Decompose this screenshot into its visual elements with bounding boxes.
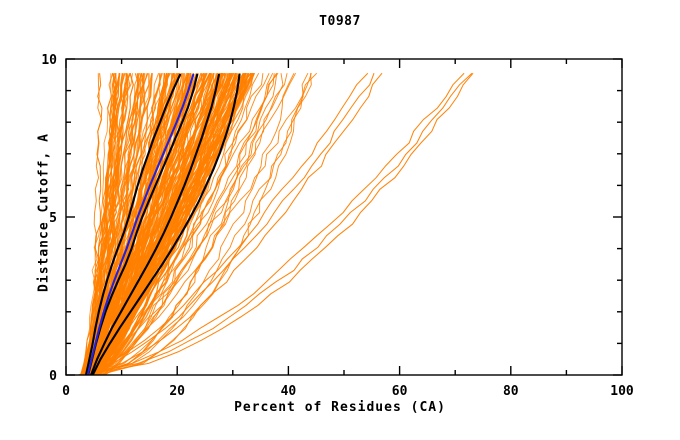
svg-text:0: 0: [62, 384, 70, 399]
svg-text:10: 10: [41, 53, 57, 68]
svg-text:60: 60: [392, 384, 408, 399]
ensemble-curves: [78, 73, 473, 375]
x-tick-labels: 020406080100: [62, 384, 634, 399]
x-axis-label: Percent of Residues (CA): [0, 400, 680, 415]
svg-text:0: 0: [49, 369, 57, 384]
svg-text:20: 20: [169, 384, 185, 399]
y-axis-label: Distance Cutoff, A: [37, 83, 52, 343]
svg-text:80: 80: [503, 384, 519, 399]
svg-text:40: 40: [281, 384, 297, 399]
chart-figure: T0987 020406080100 0510 Percent of Resid…: [0, 0, 680, 440]
plot-canvas: 020406080100 0510: [0, 0, 680, 440]
svg-text:100: 100: [610, 384, 634, 399]
